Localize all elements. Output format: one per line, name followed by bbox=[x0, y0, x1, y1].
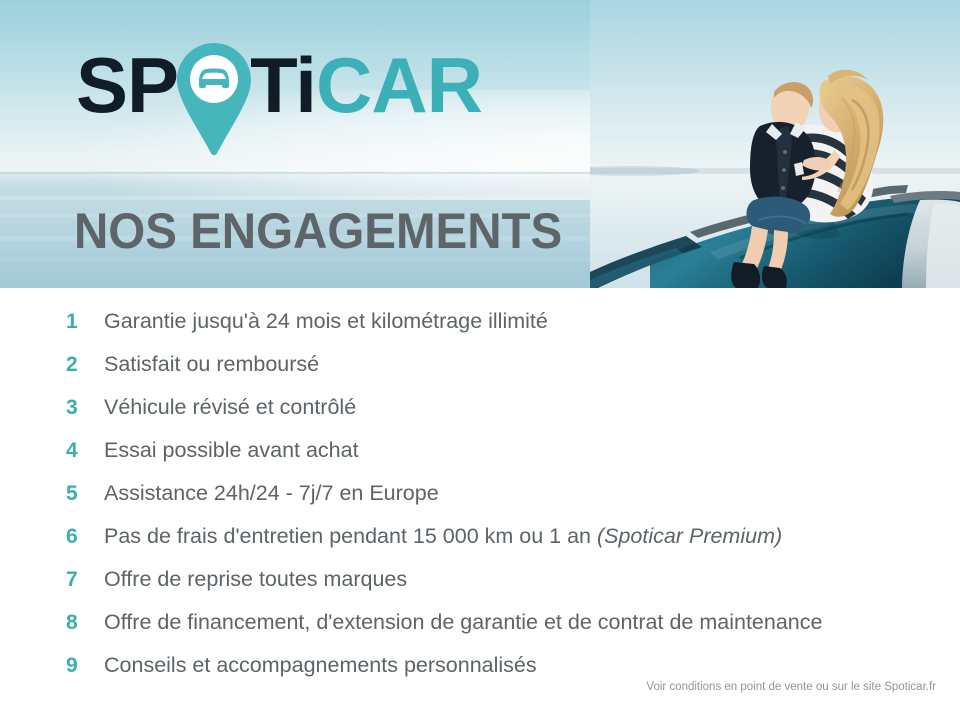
list-item: 3 Véhicule révisé et contrôlé bbox=[0, 386, 960, 429]
list-item: 2 Satisfait ou remboursé bbox=[0, 343, 960, 386]
logo-text-ti: Ti bbox=[250, 44, 316, 126]
list-item: 5 Assistance 24h/24 - 7j/7 en Europe bbox=[0, 472, 960, 515]
page-title: NOS ENGAGEMENTS bbox=[74, 204, 562, 258]
legal-disclaimer: Voir conditions en point de vente ou sur… bbox=[646, 681, 936, 693]
list-item-number: 2 bbox=[66, 343, 104, 386]
list-item-text: Satisfait ou remboursé bbox=[104, 343, 960, 386]
list-item-text: Véhicule révisé et contrôlé bbox=[104, 386, 960, 429]
hero-photo bbox=[590, 0, 960, 288]
hero-banner: SP Ti CAR NOS ENGAGEMENTS bbox=[0, 0, 960, 288]
list-item-number: 8 bbox=[66, 601, 104, 644]
list-item: 4 Essai possible avant achat bbox=[0, 429, 960, 472]
commitments-list: 1 Garantie jusqu'à 24 mois et kilométrag… bbox=[0, 300, 960, 687]
list-item-number: 3 bbox=[66, 386, 104, 429]
list-item: 6 Pas de frais d'entretien pendant 15 00… bbox=[0, 515, 960, 558]
list-item-text: Pas de frais d'entretien pendant 15 000 … bbox=[104, 515, 960, 558]
map-pin-car-icon bbox=[174, 41, 254, 159]
list-item-text: Essai possible avant achat bbox=[104, 429, 960, 472]
spoticar-commitments-page: SP Ti CAR NOS ENGAGEMENTS bbox=[0, 0, 960, 720]
list-item-number: 6 bbox=[66, 515, 104, 558]
list-item-number: 7 bbox=[66, 558, 104, 601]
list-item-text: Garantie jusqu'à 24 mois et kilométrage … bbox=[104, 300, 960, 343]
list-item-text: Assistance 24h/24 - 7j/7 en Europe bbox=[104, 472, 960, 515]
list-item: 1 Garantie jusqu'à 24 mois et kilométrag… bbox=[0, 300, 960, 343]
list-item-number: 5 bbox=[66, 472, 104, 515]
list-item-text: Offre de reprise toutes marques bbox=[104, 558, 960, 601]
list-item-number: 1 bbox=[66, 300, 104, 343]
list-item: 8 Offre de financement, d'extension de g… bbox=[0, 601, 960, 644]
logo-text-sp: SP bbox=[76, 44, 178, 126]
list-item-number: 4 bbox=[66, 429, 104, 472]
list-item-text: Offre de financement, d'extension de gar… bbox=[104, 601, 960, 644]
list-item: 7 Offre de reprise toutes marques bbox=[0, 558, 960, 601]
spoticar-logo: SP Ti CAR bbox=[76, 44, 482, 128]
list-item-number: 9 bbox=[66, 644, 104, 687]
logo-text-car: CAR bbox=[316, 44, 482, 126]
